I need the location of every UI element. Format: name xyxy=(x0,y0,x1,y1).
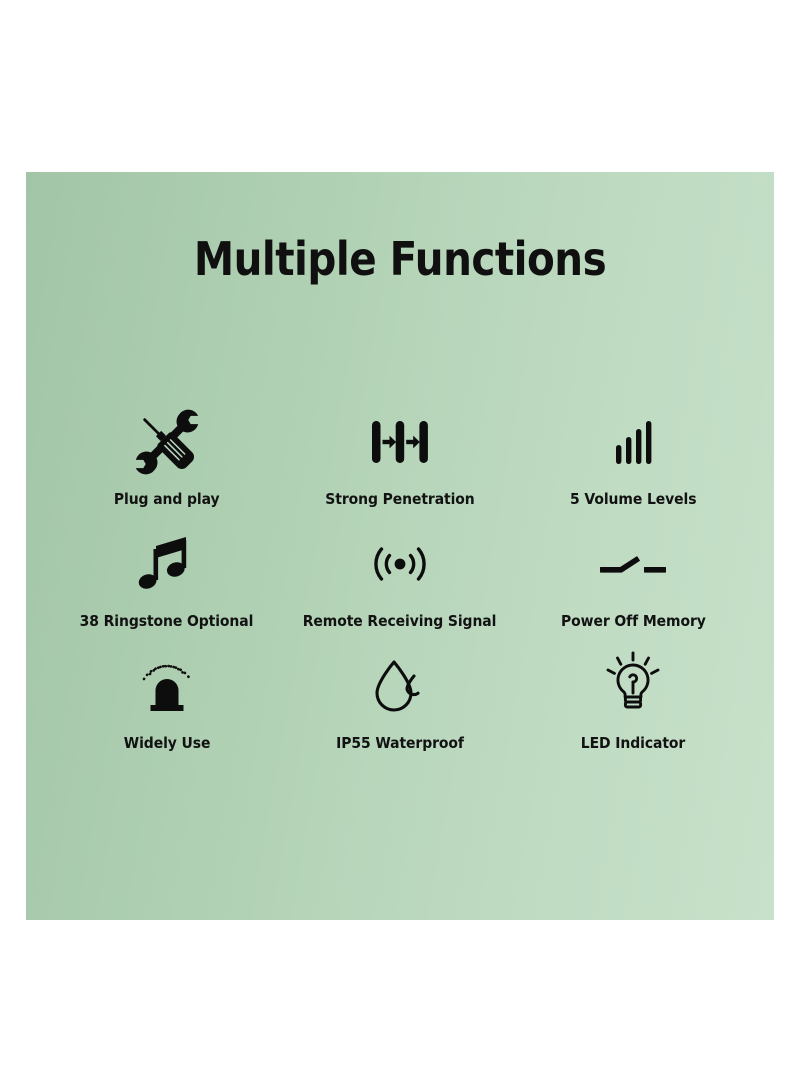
open-switch-icon xyxy=(596,526,670,602)
feature-item-remote-signal: Remote Receiving Signal xyxy=(283,526,516,630)
feature-label: 38 Ringstone Optional xyxy=(80,612,254,630)
feature-grid: Plug and play xyxy=(50,404,750,752)
feature-item-led-indicator: LED Indicator xyxy=(517,648,750,752)
feature-label: Strong Penetration xyxy=(325,490,474,508)
feature-item-plug-and-play: Plug and play xyxy=(50,404,283,508)
page-title: Multiple Functions xyxy=(71,232,729,286)
feature-label: Power Off Memory xyxy=(561,612,706,630)
feature-panel: Multiple Functions xyxy=(26,172,774,920)
light-bulb-icon xyxy=(596,648,670,724)
feature-item-widely-use: Widely Use xyxy=(50,648,283,752)
feature-label: IP55 Waterproof xyxy=(336,734,464,752)
feature-label: LED Indicator xyxy=(581,734,685,752)
penetration-bars-arrows-icon xyxy=(363,404,437,480)
product-feature-graphic: Multiple Functions xyxy=(0,0,800,1091)
music-note-icon xyxy=(130,526,204,602)
wrench-screwdriver-icon xyxy=(130,404,204,480)
feature-label: Remote Receiving Signal xyxy=(303,612,497,630)
feature-item-power-off-memory: Power Off Memory xyxy=(517,526,750,630)
feature-label: 5 Volume Levels xyxy=(570,490,696,508)
water-droplet-icon xyxy=(363,648,437,724)
wireless-signal-icon xyxy=(363,526,437,602)
feature-item-ringstone: 38 Ringstone Optional xyxy=(50,526,283,630)
volume-bars-icon xyxy=(596,404,670,480)
feature-item-waterproof: IP55 Waterproof xyxy=(283,648,516,752)
feature-item-volume-levels: 5 Volume Levels xyxy=(517,404,750,508)
feature-label: Plug and play xyxy=(114,490,220,508)
feature-label: Widely Use xyxy=(123,734,210,752)
bell-waves-icon xyxy=(130,648,204,724)
feature-item-strong-penetration: Strong Penetration xyxy=(283,404,516,508)
